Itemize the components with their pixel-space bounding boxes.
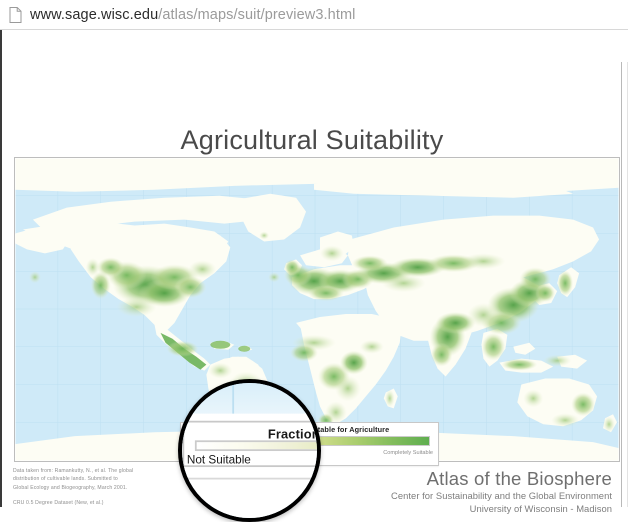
atlas-subtitle-1: Center for Sustainability and the Global… — [282, 490, 612, 503]
atlas-title: Atlas of the Biosphere — [282, 468, 612, 490]
magnified-legend: Fraction of G Not Suitable — [182, 421, 321, 467]
atlas-subtitle-2: University of Wisconsin - Madison — [282, 503, 612, 516]
legend-max-label: Completely Suitable — [383, 450, 433, 456]
magnifier-content: Fraction of G Not Suitable — [179, 379, 321, 522]
magnifier-circle[interactable]: Fraction of G Not Suitable — [178, 379, 321, 522]
browser-window: www.sage.wisc.edu/atlas/maps/suit/previe… — [0, 0, 628, 507]
page-content: Agricultural Suitability — [0, 30, 628, 507]
magnified-divider — [178, 478, 321, 480]
magnified-legend-title: Fraction of G — [184, 425, 321, 441]
map-svg — [15, 158, 619, 461]
magnified-ocean — [178, 379, 321, 417]
url-path: /atlas/maps/suit/preview3.html — [158, 7, 355, 23]
atlas-branding: Atlas of the Biosphere Center for Sustai… — [282, 468, 612, 515]
world-map[interactable] — [14, 157, 620, 462]
magnified-legend-min-label: Not Suitable — [187, 454, 251, 466]
address-bar[interactable]: www.sage.wisc.edu/atlas/maps/suit/previe… — [0, 0, 628, 30]
magnified-legend-color-bar — [195, 440, 321, 451]
page-title: Agricultural Suitability — [2, 125, 622, 156]
document-icon — [9, 7, 22, 23]
url-host: www.sage.wisc.edu — [30, 7, 158, 23]
